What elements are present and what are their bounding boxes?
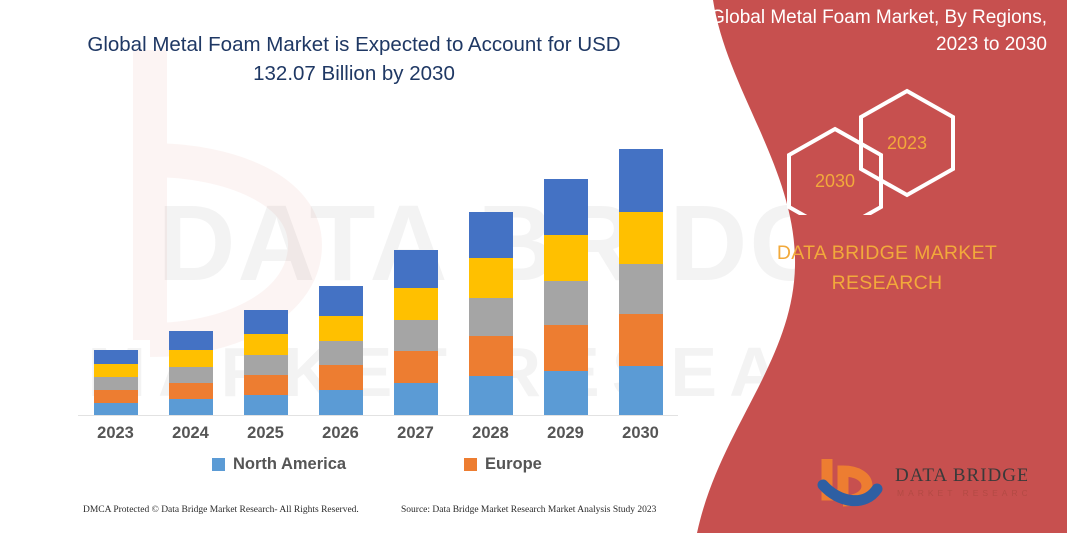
- hex-badge-2030: 2030: [795, 171, 875, 192]
- bar-segment-2023-series-4[interactable]: [94, 364, 138, 377]
- bar-segment-2024-series-3[interactable]: [169, 367, 213, 383]
- chart-legend: North AmericaEurope: [78, 455, 678, 481]
- bar-segment-2029-europe[interactable]: [544, 325, 588, 371]
- bar-segment-2029-north-america[interactable]: [544, 371, 588, 416]
- footer-source: Source: Data Bridge Market Research Mark…: [401, 505, 656, 515]
- bar-segment-2027-series-4[interactable]: [394, 288, 438, 320]
- bar-segment-2030-north-america[interactable]: [619, 366, 663, 416]
- bar-segment-2027-series-5[interactable]: [394, 250, 438, 288]
- bar-segment-2025-series-3[interactable]: [244, 355, 288, 375]
- x-axis-line: [78, 415, 678, 416]
- bar-segment-2026-north-america[interactable]: [319, 390, 363, 416]
- bar-2023[interactable]: [94, 350, 138, 416]
- bar-2025[interactable]: [244, 310, 288, 416]
- bar-segment-2026-series-3[interactable]: [319, 341, 363, 365]
- bar-segment-2025-north-america[interactable]: [244, 395, 288, 416]
- footer: DMCA Protected © Data Bridge Market Rese…: [0, 505, 720, 525]
- bar-segment-2025-series-4[interactable]: [244, 334, 288, 355]
- bar-segment-2023-series-5[interactable]: [94, 350, 138, 364]
- bar-segment-2029-series-5[interactable]: [544, 179, 588, 235]
- x-axis-label-2026: 2026: [305, 424, 377, 443]
- x-axis-labels: 20232024202520262027202820292030: [78, 424, 678, 450]
- bar-segment-2026-europe[interactable]: [319, 365, 363, 390]
- bar-segment-2029-series-4[interactable]: [544, 235, 588, 281]
- bar-segment-2030-europe[interactable]: [619, 314, 663, 366]
- legend-item-europe[interactable]: Europe: [464, 455, 542, 474]
- hexagon-badges: 2023 2030: [767, 85, 1047, 215]
- bar-segment-2028-series-4[interactable]: [469, 258, 513, 298]
- bar-segment-2026-series-4[interactable]: [319, 316, 363, 341]
- bar-segment-2028-europe[interactable]: [469, 336, 513, 376]
- hex-badge-2023: 2023: [867, 133, 947, 154]
- chart-plot-area: [78, 110, 678, 416]
- bar-2030[interactable]: [619, 149, 663, 416]
- bar-segment-2028-series-3[interactable]: [469, 298, 513, 336]
- legend-item-north-america[interactable]: North America: [212, 455, 346, 474]
- legend-label: North America: [233, 455, 346, 474]
- bar-segment-2024-europe[interactable]: [169, 383, 213, 399]
- panel-brand-line-2: RESEARCH: [727, 268, 1047, 298]
- x-axis-label-2028: 2028: [455, 424, 527, 443]
- legend-label: Europe: [485, 455, 542, 474]
- x-axis-label-2027: 2027: [380, 424, 452, 443]
- x-axis-label-2030: 2030: [605, 424, 677, 443]
- bar-segment-2027-series-3[interactable]: [394, 320, 438, 351]
- bar-2029[interactable]: [544, 179, 588, 416]
- bar-segment-2023-series-3[interactable]: [94, 377, 138, 390]
- x-axis-label-2029: 2029: [530, 424, 602, 443]
- footer-copyright: DMCA Protected © Data Bridge Market Rese…: [83, 505, 359, 515]
- bar-segment-2024-north-america[interactable]: [169, 399, 213, 416]
- x-axis-label-2024: 2024: [155, 424, 227, 443]
- bar-2027[interactable]: [394, 250, 438, 416]
- svg-text:MARKET RESEARCH: MARKET RESEARCH: [897, 488, 1027, 498]
- legend-swatch-icon: [212, 458, 225, 471]
- bar-segment-2023-europe[interactable]: [94, 390, 138, 403]
- svg-text:DATA BRIDGE: DATA BRIDGE: [895, 465, 1027, 486]
- bar-2028[interactable]: [469, 212, 513, 416]
- bar-segment-2029-series-3[interactable]: [544, 281, 588, 325]
- panel-brand-line-1: DATA BRIDGE MARKET: [727, 238, 1047, 268]
- bar-segment-2025-series-5[interactable]: [244, 310, 288, 334]
- bar-segment-2027-europe[interactable]: [394, 351, 438, 383]
- bar-segment-2024-series-5[interactable]: [169, 331, 213, 350]
- bar-segment-2028-north-america[interactable]: [469, 376, 513, 416]
- bar-segment-2027-north-america[interactable]: [394, 383, 438, 416]
- data-bridge-logo: DATA BRIDGE MARKET RESEARCH: [817, 455, 1027, 507]
- bar-segment-2026-series-5[interactable]: [319, 286, 363, 316]
- infographic-canvas: DATA BRIDGE MARKET RESEARCH Global Metal…: [0, 0, 1067, 533]
- x-axis-label-2025: 2025: [230, 424, 302, 443]
- bar-segment-2030-series-5[interactable]: [619, 149, 663, 212]
- bar-segment-2030-series-4[interactable]: [619, 212, 663, 264]
- regions-panel: Global Metal Foam Market, By Regions, 20…: [667, 0, 1067, 533]
- bar-segment-2030-series-3[interactable]: [619, 264, 663, 314]
- legend-swatch-icon: [464, 458, 477, 471]
- chart-title: Global Metal Foam Market is Expected to …: [78, 30, 630, 88]
- bar-segment-2024-series-4[interactable]: [169, 350, 213, 367]
- bar-segment-2028-series-5[interactable]: [469, 212, 513, 258]
- x-axis-label-2023: 2023: [80, 424, 152, 443]
- panel-title: Global Metal Foam Market, By Regions, 20…: [697, 4, 1047, 58]
- bar-2026[interactable]: [319, 286, 363, 416]
- panel-brand: DATA BRIDGE MARKET RESEARCH: [727, 238, 1047, 298]
- bar-segment-2025-europe[interactable]: [244, 375, 288, 395]
- bar-2024[interactable]: [169, 331, 213, 416]
